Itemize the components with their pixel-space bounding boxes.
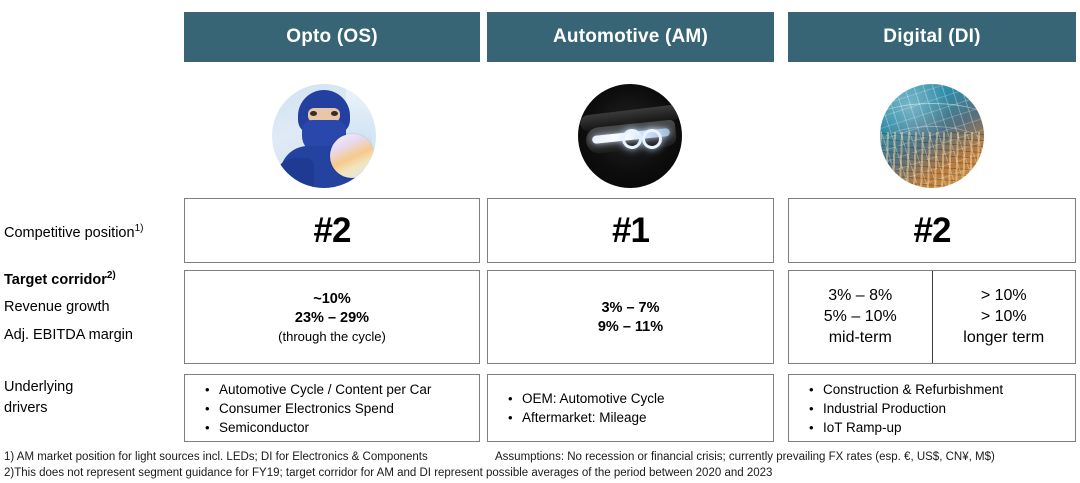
car-headlight-photo	[578, 84, 682, 188]
drivers-list-digital: Construction & Refurbishment Industrial …	[789, 375, 1075, 441]
list-item: Construction & Refurbishment	[823, 380, 1065, 399]
column-header-opto-label: Opto (OS)	[286, 26, 378, 48]
cleanroom-eyes-icon	[310, 111, 338, 116]
footnote-marker-2: 2)	[107, 270, 116, 281]
competitive-position-value-digital: #2	[789, 199, 1075, 262]
list-item: Automotive Cycle / Content per Car	[219, 380, 469, 399]
underlying-drivers-cell-digital: Construction & Refurbishment Industrial …	[788, 374, 1076, 442]
target-corridor-values-automotive: 3% – 7% 9% – 11%	[488, 271, 773, 363]
competitive-position-value-opto: #2	[185, 199, 479, 262]
column-image-opto	[272, 84, 376, 188]
column-header-automotive: Automotive (AM)	[487, 12, 774, 62]
list-item: Industrial Production	[823, 399, 1065, 418]
underlying-drivers-cell-automotive: OEM: Automotive Cycle Aftermarket: Milea…	[487, 374, 774, 442]
row-label-competitive-position: Competitive position1)	[4, 223, 143, 241]
column-image-digital	[880, 84, 984, 188]
digital-globe-network-photo	[880, 84, 984, 188]
footnote-assumptions: Assumptions: No recession or financial c…	[495, 451, 995, 463]
row-label-competitive-position-text: Competitive position	[4, 225, 135, 241]
row-label-target-corridor-text: Target corridor	[4, 272, 107, 288]
drivers-list-opto: Automotive Cycle / Content per Car Consu…	[185, 375, 479, 441]
footnote-marker-1: 1)	[135, 223, 144, 234]
target-corridor-cell-automotive: 3% – 7% 9% – 11%	[487, 270, 774, 364]
target-corridor-digital-longerterm: > 10% > 10% longer term	[932, 271, 1076, 363]
corridor-note-digital-midterm: mid-term	[829, 329, 892, 347]
segment-overview-slide: Opto (OS) Automotive (AM) Digital (DI)	[0, 0, 1080, 483]
silicon-wafer-icon	[330, 134, 374, 178]
target-corridor-values-digital: 3% – 8% 5% – 10% mid-term > 10% > 10% lo…	[789, 271, 1075, 363]
list-item: Consumer Electronics Spend	[219, 399, 469, 418]
row-label-ebitda-margin: Adj. EBITDA margin	[4, 327, 133, 343]
drivers-list-automotive: OEM: Automotive Cycle Aftermarket: Milea…	[488, 375, 773, 441]
competitive-position-cell-digital: #2	[788, 198, 1076, 263]
target-corridor-cell-digital: 3% – 8% 5% – 10% mid-term > 10% > 10% lo…	[788, 270, 1076, 364]
underlying-drivers-cell-opto: Automotive Cycle / Content per Car Consu…	[184, 374, 480, 442]
target-corridor-cell-opto: ~10% 23% – 29% (through the cycle)	[184, 270, 480, 364]
cleanroom-wafer-photo	[272, 84, 376, 188]
row-label-revenue-growth: Revenue growth	[4, 299, 110, 315]
row-label-target-corridor: Target corridor2)	[4, 270, 116, 288]
ebitda-margin-value-digital-longerterm: > 10%	[981, 308, 1027, 326]
footnote-1: 1) AM market position for light sources …	[4, 451, 428, 463]
list-item: Aftermarket: Mileage	[522, 408, 763, 427]
ebitda-margin-value-automotive: 9% – 11%	[598, 319, 663, 335]
row-label-underlying-drivers-line1: Underlying	[4, 379, 73, 395]
revenue-growth-value-automotive: 3% – 7%	[601, 300, 659, 316]
corridor-note-opto: (through the cycle)	[278, 329, 386, 344]
list-item: Semiconductor	[219, 418, 469, 437]
column-header-digital-label: Digital (DI)	[883, 26, 980, 48]
revenue-growth-value-digital-midterm: 3% – 8%	[828, 287, 892, 305]
column-header-digital: Digital (DI)	[788, 12, 1076, 62]
globe-arc-icon	[880, 126, 984, 174]
competitive-position-value-automotive: #1	[488, 199, 773, 262]
ebitda-margin-value-opto: 23% – 29%	[295, 310, 369, 326]
column-header-opto: Opto (OS)	[184, 12, 480, 62]
revenue-growth-value-digital-longerterm: > 10%	[981, 287, 1027, 305]
column-header-automotive-label: Automotive (AM)	[553, 26, 708, 48]
footnote-2: 2)This does not represent segment guidan…	[4, 467, 772, 479]
competitive-position-cell-opto: #2	[184, 198, 480, 263]
target-corridor-digital-midterm: 3% – 8% 5% – 10% mid-term	[789, 271, 932, 363]
list-item: IoT Ramp-up	[823, 418, 1065, 437]
row-label-underlying-drivers-line2: drivers	[4, 400, 48, 416]
revenue-growth-value-opto: ~10%	[313, 291, 351, 307]
ebitda-margin-value-digital-midterm: 5% – 10%	[824, 308, 897, 326]
corridor-note-digital-longerterm: longer term	[963, 329, 1044, 347]
list-item: OEM: Automotive Cycle	[522, 389, 763, 408]
competitive-position-cell-automotive: #1	[487, 198, 774, 263]
column-image-automotive	[578, 84, 682, 188]
target-corridor-values-opto: ~10% 23% – 29% (through the cycle)	[185, 271, 479, 363]
cleanroom-shoulder-icon	[274, 158, 314, 188]
